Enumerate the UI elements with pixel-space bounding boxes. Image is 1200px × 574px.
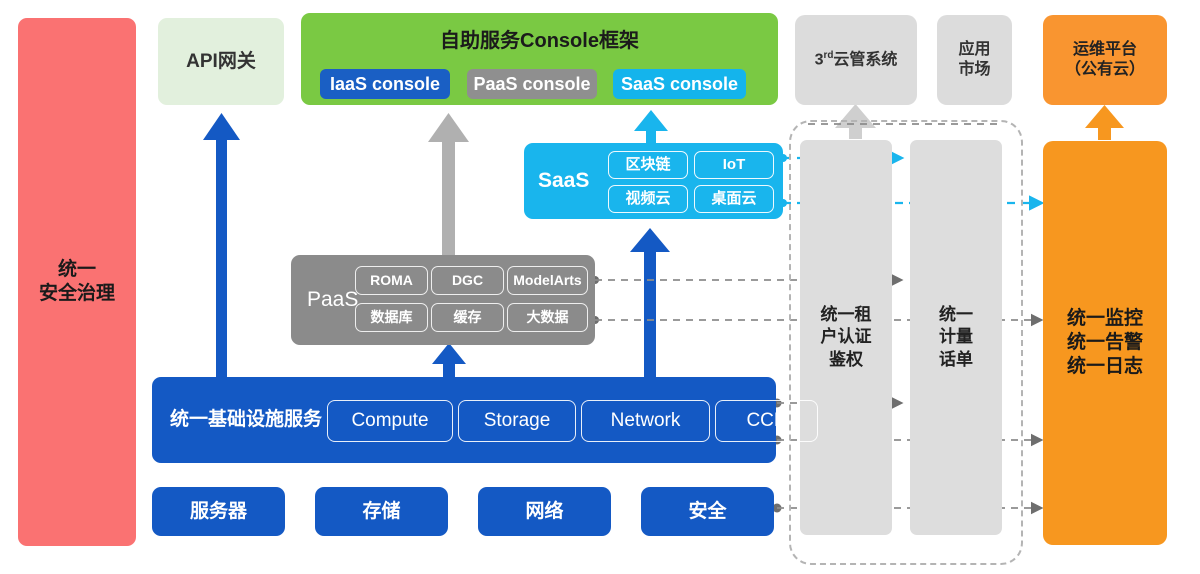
paas-box[interactable]: PaaS ROMA DGC ModelArts 数据库 缓存 大数据 bbox=[291, 255, 595, 345]
infra-item-cce-label: CCE bbox=[746, 409, 786, 433]
iaas-console-label: IaaS console bbox=[330, 73, 440, 96]
infra-item-compute[interactable]: Compute bbox=[327, 400, 453, 442]
resource-network-label: 网络 bbox=[525, 500, 563, 524]
resource-box-server[interactable]: 服务器 bbox=[152, 487, 285, 536]
app-market-line-1: 应用 bbox=[958, 40, 990, 60]
saas-item-iot[interactable]: IoT bbox=[694, 151, 774, 179]
ops-platform-line-2: （公有云） bbox=[1065, 60, 1145, 80]
paas-item-bigdata-label: 大数据 bbox=[527, 309, 569, 327]
ops-platform-public-cloud-box[interactable]: 运维平台 （公有云） bbox=[1043, 15, 1167, 105]
paas-item-database[interactable]: 数据库 bbox=[355, 303, 428, 332]
unified-infrastructure-label: 统一基础设施服务 bbox=[170, 408, 322, 432]
paas-console-label: PaaS console bbox=[473, 73, 590, 96]
paas-item-bigdata[interactable]: 大数据 bbox=[507, 303, 588, 332]
saas-console-chip[interactable]: SaaS console bbox=[613, 69, 746, 99]
api-gateway-label: API网关 bbox=[186, 50, 256, 74]
resource-box-storage[interactable]: 存储 bbox=[315, 487, 448, 536]
saas-item-blockchain-label: 区块链 bbox=[625, 156, 670, 175]
tenant-auth-line-2: 户认证 bbox=[821, 326, 872, 348]
saas-item-desktop-cloud[interactable]: 桌面云 bbox=[694, 185, 774, 213]
infra-item-network-label: Network bbox=[611, 409, 681, 433]
ops-panel-line-3: 统一日志 bbox=[1067, 355, 1143, 379]
unified-metering-billing-column[interactable]: 统一 计量 话单 bbox=[910, 140, 1002, 535]
arrow-infra-to-paas bbox=[432, 343, 466, 380]
security-governance-panel[interactable]: 统一 安全治理 bbox=[18, 18, 136, 546]
paas-item-dgc-label: DGC bbox=[452, 272, 483, 290]
arrow-infra-to-apigw bbox=[203, 113, 240, 378]
metering-line-3: 话单 bbox=[939, 349, 973, 371]
paas-item-modelarts-label: ModelArts bbox=[513, 272, 581, 290]
unified-ops-panel[interactable]: 统一监控 统一告警 统一日志 bbox=[1043, 141, 1167, 545]
security-line-2: 安全治理 bbox=[39, 282, 115, 306]
self-service-console-framework[interactable]: 自助服务Console框架 IaaS console PaaS console … bbox=[301, 13, 778, 105]
tenant-auth-line-3: 鉴权 bbox=[821, 349, 872, 371]
resource-box-network[interactable]: 网络 bbox=[478, 487, 611, 536]
paas-item-roma-label: ROMA bbox=[370, 272, 413, 290]
paas-item-cache-label: 缓存 bbox=[454, 309, 482, 327]
iaas-console-chip[interactable]: IaaS console bbox=[320, 69, 450, 99]
infra-item-compute-label: Compute bbox=[351, 409, 428, 433]
infra-item-storage-label: Storage bbox=[484, 409, 551, 433]
tenant-auth-line-1: 统一租 bbox=[821, 304, 872, 326]
infra-item-storage[interactable]: Storage bbox=[458, 400, 576, 442]
metering-line-1: 统一 bbox=[939, 304, 973, 326]
saas-item-video-cloud-label: 视频云 bbox=[625, 190, 670, 209]
resource-storage-label: 存储 bbox=[362, 500, 400, 524]
paas-item-modelarts[interactable]: ModelArts bbox=[507, 266, 588, 295]
api-gateway-box[interactable]: API网关 bbox=[158, 18, 284, 105]
saas-label: SaaS bbox=[538, 168, 589, 194]
third-party-label: 3rd云管系统 bbox=[815, 50, 898, 70]
arrow-infra-to-saas bbox=[630, 228, 670, 380]
resource-box-security[interactable]: 安全 bbox=[641, 487, 774, 536]
unified-tenant-auth-column[interactable]: 统一租 户认证 鉴权 bbox=[800, 140, 892, 535]
resource-security-label: 安全 bbox=[688, 500, 726, 524]
app-market-box[interactable]: 应用 市场 bbox=[937, 15, 1012, 105]
resource-server-label: 服务器 bbox=[190, 500, 247, 524]
arrow-saas-to-console bbox=[634, 110, 668, 147]
saas-item-desktop-cloud-label: 桌面云 bbox=[711, 190, 756, 209]
infra-item-network[interactable]: Network bbox=[581, 400, 710, 442]
ops-panel-line-1: 统一监控 bbox=[1067, 307, 1143, 331]
saas-box[interactable]: SaaS 区块链 IoT 视频云 桌面云 bbox=[524, 143, 783, 219]
paas-item-roma[interactable]: ROMA bbox=[355, 266, 428, 295]
saas-item-iot-label: IoT bbox=[723, 156, 746, 175]
infra-item-cce[interactable]: CCE bbox=[715, 400, 818, 442]
ops-panel-line-2: 统一告警 bbox=[1067, 331, 1143, 355]
ops-platform-line-1: 运维平台 bbox=[1073, 40, 1137, 60]
metering-line-2: 计量 bbox=[939, 326, 973, 348]
saas-item-video-cloud[interactable]: 视频云 bbox=[608, 185, 688, 213]
paas-console-chip[interactable]: PaaS console bbox=[467, 69, 597, 99]
paas-label: PaaS bbox=[307, 287, 358, 313]
arrow-to-ops-platform bbox=[1085, 105, 1124, 140]
unified-infrastructure-bar[interactable]: 统一基础设施服务 Compute Storage Network CCE bbox=[152, 377, 776, 463]
app-market-line-2: 市场 bbox=[958, 60, 990, 80]
third-party-cloud-mgmt-box[interactable]: 3rd云管系统 bbox=[795, 15, 917, 105]
paas-item-dgc[interactable]: DGC bbox=[431, 266, 504, 295]
saas-item-blockchain[interactable]: 区块链 bbox=[608, 151, 688, 179]
paas-item-database-label: 数据库 bbox=[371, 309, 413, 327]
paas-item-cache[interactable]: 缓存 bbox=[431, 303, 504, 332]
security-line-1: 统一 bbox=[58, 258, 96, 282]
arrow-paas-to-console bbox=[428, 113, 469, 258]
saas-console-label: SaaS console bbox=[621, 73, 738, 96]
console-framework-title: 自助服务Console框架 bbox=[301, 29, 778, 54]
architecture-diagram: 统一 安全治理 API网关 自助服务Console框架 IaaS console… bbox=[0, 0, 1200, 574]
